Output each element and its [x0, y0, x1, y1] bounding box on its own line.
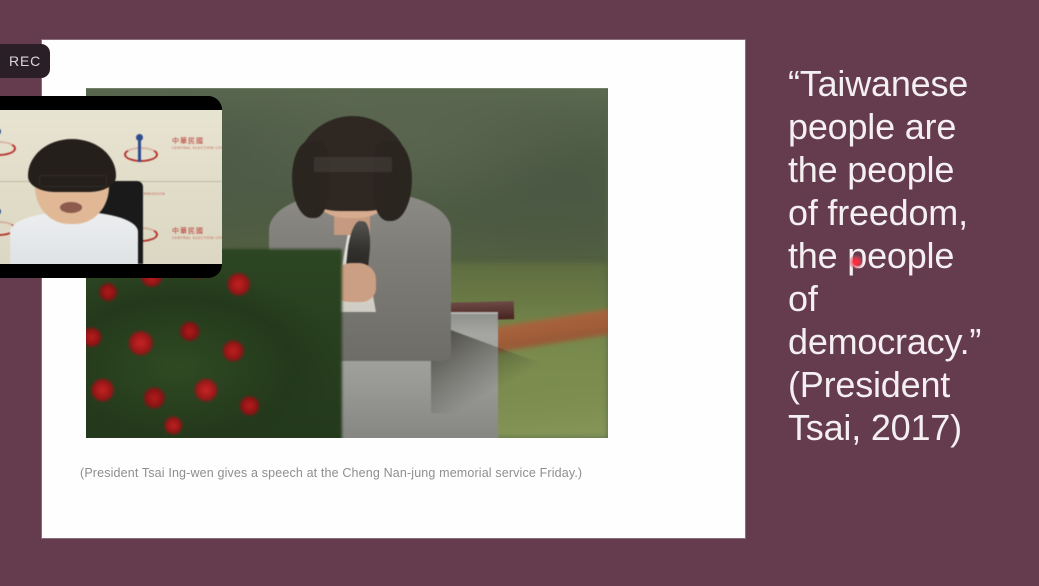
- photo-caption: (President Tsai Ing-wen gives a speech a…: [80, 466, 710, 480]
- webcam-letterbox-top: [0, 96, 222, 110]
- backdrop-org-name: 中華民國 CENTRAL ELECTION COMMISSION: [172, 226, 222, 240]
- webcam-video-feed: 中華民國 CENTRAL ELECTION COMMISSION 中華民國 CE…: [0, 110, 222, 264]
- backdrop-org-name: 中華民國 CENTRAL ELECTION COMMISSION: [172, 136, 222, 150]
- webcam-letterbox-bottom: [0, 264, 222, 278]
- laser-pointer-dot: [849, 255, 863, 269]
- backdrop-logo-icon: [124, 134, 154, 164]
- photo-speaker-glasses: [313, 156, 393, 173]
- quote-text: “Taiwanese people are the people of free…: [788, 62, 1032, 449]
- webcam-thumbnail[interactable]: 中華民國 CENTRAL ELECTION COMMISSION 中華民國 CE…: [0, 96, 222, 278]
- photo-speaker-hair-left: [292, 141, 329, 218]
- webcam-participant-mouth: [60, 202, 82, 213]
- webcam-participant-glasses: [39, 175, 107, 188]
- webcam-scene: 中華民國 CENTRAL ELECTION COMMISSION 中華民國 CE…: [0, 110, 222, 264]
- recording-indicator-badge[interactable]: REC: [0, 44, 50, 78]
- screen-share-view: (President Tsai Ing-wen gives a speech a…: [0, 0, 1039, 586]
- backdrop-logo-icon: [0, 128, 12, 158]
- quote-panel: “Taiwanese people are the people of free…: [788, 62, 1032, 449]
- recording-indicator-label: REC: [9, 53, 41, 69]
